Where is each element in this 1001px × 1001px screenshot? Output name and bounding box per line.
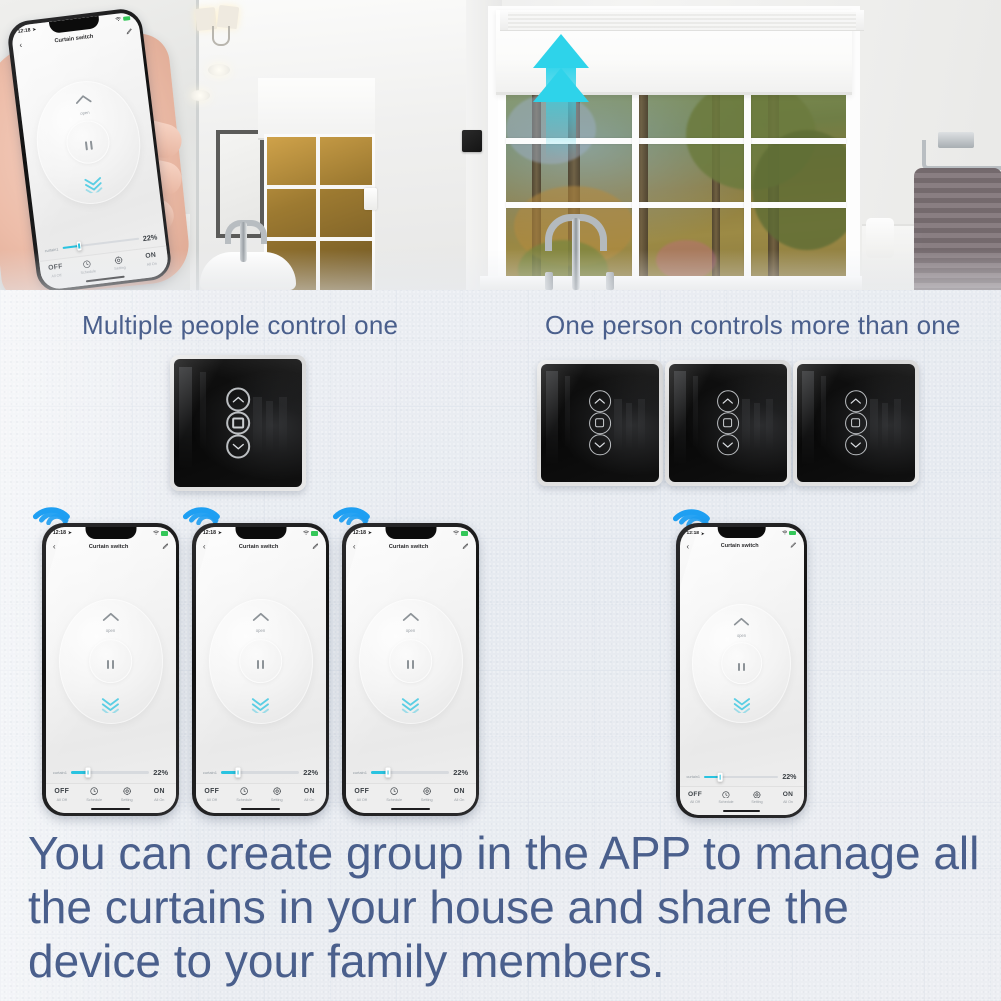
off-text-icon: OFF	[354, 787, 369, 796]
pause-button[interactable]	[407, 660, 413, 669]
square-stop-icon	[724, 419, 733, 428]
wall-curtain-switch[interactable]	[793, 360, 919, 486]
battery-icon	[461, 531, 468, 535]
pause-button[interactable]	[738, 663, 744, 672]
square-stop-icon	[232, 417, 244, 429]
edit-pencil-icon[interactable]	[790, 542, 796, 550]
on-text-icon: ON	[154, 787, 165, 796]
open-label: open	[737, 633, 746, 638]
battery-icon	[161, 531, 168, 535]
tab-setting[interactable]: Setting	[261, 784, 294, 805]
off-text-icon: OFF	[204, 787, 219, 796]
page-title: Curtain switch	[239, 544, 279, 550]
open-chevron-icon[interactable]	[252, 609, 270, 627]
close-double-chevron-icon[interactable]	[100, 696, 121, 714]
gear-icon	[123, 787, 131, 796]
status-time: 12:18	[53, 530, 66, 536]
gear-icon	[423, 787, 431, 796]
curtain-position-slider[interactable]	[704, 776, 779, 778]
gear-icon	[753, 790, 761, 799]
phone-left-2[interactable]: 12:18 ➤ ‹ Curtain switch	[192, 523, 329, 816]
tab-label: All On	[304, 798, 314, 802]
location-arrow-icon: ➤	[218, 530, 222, 536]
tab-label: Setting	[121, 798, 133, 802]
curtain-percent-value: 22%	[782, 774, 796, 781]
status-time: 12:18	[353, 530, 366, 536]
bottom-tab-bar[interactable]: OFF All Off Schedule Setting ON All On	[346, 783, 476, 805]
stop-button[interactable]	[717, 412, 739, 434]
curtain-dial-control[interactable]: open	[680, 553, 804, 773]
curtain-percent-value: 22%	[153, 768, 168, 777]
phone-left-1[interactable]: 12:18 ➤ ‹ Curtain switch	[42, 523, 179, 816]
tab-schedule[interactable]: Schedule	[711, 787, 742, 807]
tab-all-off[interactable]: OFF All Off	[680, 787, 711, 807]
tab-label: All Off	[690, 800, 700, 804]
square-stop-icon	[596, 419, 605, 428]
back-button[interactable]: ‹	[53, 543, 56, 551]
slider-label: curtain1	[203, 770, 217, 775]
curtain-position-slider[interactable]	[221, 771, 299, 773]
clock-icon	[390, 787, 398, 796]
tab-label: Schedule	[236, 798, 252, 802]
edit-pencil-icon[interactable]	[162, 543, 169, 552]
tab-label: Schedule	[718, 800, 733, 804]
edit-pencil-icon[interactable]	[462, 543, 469, 552]
on-text-icon: ON	[783, 790, 793, 799]
hero-photo: 12:18 ➤ ‹ Curtain switch	[0, 0, 1001, 290]
slider-knob[interactable]	[236, 768, 241, 777]
open-chevron-icon[interactable]	[733, 614, 750, 632]
on-text-icon: ON	[454, 787, 465, 796]
open-label: open	[256, 628, 266, 633]
wifi-signal-icon	[32, 492, 72, 525]
curtain-percent-value: 22%	[453, 768, 468, 777]
open-button[interactable]	[845, 390, 867, 412]
battery-icon	[789, 531, 796, 535]
home-indicator	[391, 808, 430, 810]
section-heading-left: Multiple people control one	[82, 310, 398, 341]
tab-all-off[interactable]: OFF All Off	[196, 784, 229, 805]
close-button[interactable]	[226, 435, 250, 459]
status-time: 12:18	[687, 531, 699, 536]
bottom-tab-bar[interactable]: OFF All Off Schedule Setting ON All On	[680, 786, 804, 807]
tab-setting[interactable]: Setting	[742, 787, 773, 807]
location-arrow-icon: ➤	[368, 530, 372, 536]
location-arrow-icon: ➤	[701, 531, 705, 536]
open-button[interactable]	[589, 390, 611, 412]
open-button[interactable]	[717, 390, 739, 412]
curtain-dial-control[interactable]: open	[196, 554, 326, 768]
gear-icon	[273, 787, 281, 796]
wifi-icon	[453, 530, 459, 537]
home-indicator	[91, 808, 130, 810]
bottom-tab-bar[interactable]: OFF All Off Schedule Setting ON All On	[196, 783, 326, 805]
home-indicator	[241, 808, 280, 810]
wifi-signal-icon	[182, 492, 222, 525]
tab-schedule[interactable]: Schedule	[78, 784, 111, 805]
wifi-signal-icon	[332, 492, 372, 525]
open-chevron-icon[interactable]	[402, 609, 420, 627]
tab-label: Schedule	[86, 798, 102, 802]
back-button[interactable]: ‹	[353, 543, 356, 551]
footer-headline: You can create group in the APP to manag…	[28, 826, 984, 988]
open-chevron-icon[interactable]	[102, 609, 120, 627]
tab-label: All Off	[57, 798, 67, 802]
tab-all-on[interactable]: ON All On	[773, 787, 804, 807]
tab-label: Schedule	[386, 798, 402, 802]
on-text-icon: ON	[304, 787, 315, 796]
tab-label: Setting	[271, 798, 283, 802]
slider-knob[interactable]	[718, 773, 723, 782]
off-text-icon: OFF	[688, 790, 702, 799]
open-button[interactable]	[226, 387, 250, 411]
bottom-tab-bar[interactable]: OFF All Off Schedule Setting ON All On	[46, 783, 176, 805]
pause-button[interactable]	[257, 660, 263, 669]
status-time: 12:18	[203, 530, 216, 536]
tab-setting[interactable]: Setting	[411, 784, 444, 805]
pause-button[interactable]	[107, 660, 113, 669]
tab-all-off[interactable]: OFF All Off	[46, 784, 79, 805]
page-title: Curtain switch	[721, 543, 759, 549]
stop-button[interactable]	[845, 412, 867, 434]
phone-left-3[interactable]: 12:18 ➤ ‹ Curtain switch	[342, 523, 479, 816]
wall-curtain-switch[interactable]	[170, 355, 306, 491]
curtain-position-slider[interactable]	[371, 771, 449, 773]
tab-label: Setting	[421, 798, 433, 802]
wifi-signal-icon	[672, 494, 712, 527]
open-label: open	[106, 628, 116, 633]
wifi-icon	[153, 530, 159, 537]
page-title: Curtain switch	[389, 544, 429, 550]
location-arrow-icon: ➤	[68, 530, 72, 536]
stop-button[interactable]	[589, 412, 611, 434]
tab-all-on[interactable]: ON All On	[443, 784, 476, 805]
tab-label: All On	[783, 800, 793, 804]
close-double-chevron-icon[interactable]	[400, 696, 421, 714]
wall-curtain-switch[interactable]	[665, 360, 791, 486]
square-stop-icon	[852, 419, 861, 428]
curtain-dial-control[interactable]: open	[46, 554, 176, 768]
clock-icon	[90, 787, 98, 796]
battery-icon	[311, 531, 318, 535]
tab-label: All On	[154, 798, 164, 802]
stop-button[interactable]	[226, 411, 250, 435]
tab-label: All Off	[207, 798, 217, 802]
edit-pencil-icon[interactable]	[312, 543, 319, 552]
close-button[interactable]	[845, 434, 867, 456]
slider-knob[interactable]	[86, 768, 91, 777]
tab-label: Setting	[751, 800, 762, 804]
slider-label: curtain1	[53, 770, 67, 775]
close-double-chevron-icon[interactable]	[732, 696, 752, 713]
slider-label: curtain1	[353, 770, 367, 775]
tab-all-on[interactable]: ON All On	[293, 784, 326, 805]
off-text-icon: OFF	[54, 787, 69, 796]
tab-schedule[interactable]: Schedule	[228, 784, 261, 805]
tab-label: All Off	[357, 798, 367, 802]
tab-all-off[interactable]: OFF All Off	[346, 784, 379, 805]
back-button[interactable]: ‹	[203, 543, 206, 551]
close-button[interactable]	[589, 434, 611, 456]
wall-curtain-switch[interactable]	[537, 360, 663, 486]
curtain-position-slider[interactable]	[71, 771, 149, 773]
curtain-percent-value: 22%	[303, 768, 318, 777]
open-label: open	[406, 628, 416, 633]
phone-right-1[interactable]: 12:18 ➤ ‹ Curtain switch	[676, 523, 807, 818]
curtain-dial-control[interactable]: open	[346, 554, 476, 768]
wifi-icon	[782, 530, 788, 537]
page-title: Curtain switch	[89, 544, 129, 550]
tab-setting[interactable]: Setting	[111, 784, 144, 805]
slider-knob[interactable]	[386, 768, 391, 777]
slider-label: curtain1	[687, 775, 700, 779]
product-infographic: 12:18 ➤ ‹ Curtain switch	[0, 0, 1001, 1001]
clock-icon	[240, 787, 248, 796]
tab-schedule[interactable]: Schedule	[378, 784, 411, 805]
tab-all-on[interactable]: ON All On	[143, 784, 176, 805]
home-indicator	[723, 810, 761, 812]
close-button[interactable]	[717, 434, 739, 456]
wifi-icon	[303, 530, 309, 537]
back-button[interactable]: ‹	[687, 543, 690, 551]
clock-icon	[722, 790, 730, 799]
tab-label: All On	[454, 798, 464, 802]
section-heading-right: One person controls more than one	[545, 310, 961, 341]
close-double-chevron-icon[interactable]	[250, 696, 271, 714]
